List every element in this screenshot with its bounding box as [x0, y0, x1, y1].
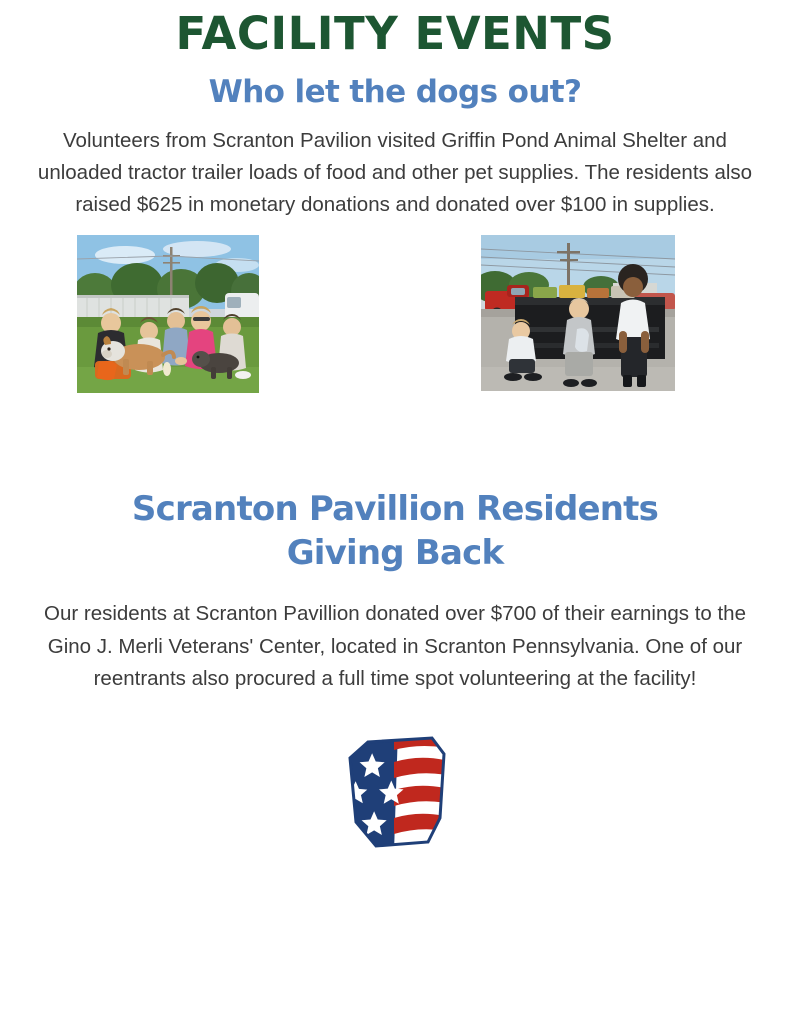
photo-row-dogs [0, 235, 790, 400]
section-spacer [0, 400, 790, 488]
paragraph-dogs: Volunteers from Scranton Pavilion visite… [25, 109, 765, 222]
emblem-container [0, 730, 790, 857]
photo-volunteers-dogs [77, 235, 259, 393]
section-heading-giving-back-line2: Giving Back [0, 532, 790, 576]
page-title: FACILITY EVENTS [0, 0, 790, 58]
pennsylvania-flag-emblem-icon [336, 730, 454, 852]
paragraph-giving-back: Our residents at Scranton Pavillion dona… [36, 575, 754, 695]
photo-residents-trailer [481, 235, 675, 391]
section-heading-dogs: Who let the dogs out? [0, 75, 790, 109]
newsletter-page: FACILITY EVENTS Who let the dogs out? Vo… [0, 0, 790, 1024]
section-heading-giving-back-line1: Scranton Pavillion Residents [0, 488, 790, 532]
